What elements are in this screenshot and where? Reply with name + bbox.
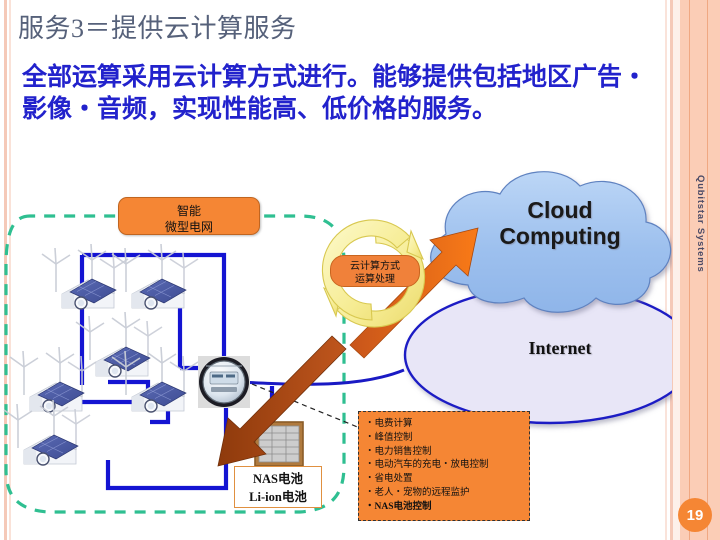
smart-meter <box>198 356 250 408</box>
feature-item: NAS电池控制 <box>365 501 529 515</box>
feature-item: 老人・宠物的远程监护 <box>365 487 529 501</box>
feature-item: 电力销售控制 <box>365 446 529 460</box>
slide-canvas: Qubitstar Systems 19 服务3＝提供云计算服务 全部运算采用云… <box>0 0 720 540</box>
nas-battery-label: NAS电池 Li-ion电池 <box>234 466 322 508</box>
body-paragraph: 全部运算采用云计算方式进行。能够提供包括地区广告・影像・音频，实现性能高、低价格… <box>22 62 662 126</box>
cloud-computing-title: Cloud Computing <box>470 198 650 250</box>
feature-list: 电费计算峰值控制电力销售控制电动汽车的充电・放电控制省电处置老人・宠物的远程监护… <box>365 418 529 514</box>
feature-item: 峰值控制 <box>365 432 529 446</box>
internet-label: Internet <box>470 338 650 359</box>
feature-item: 省电处置 <box>365 473 529 487</box>
feature-item: 电费计算 <box>365 418 529 432</box>
right-edge-rule-c <box>689 0 690 540</box>
feature-item: 电动汽车的充电・放电控制 <box>365 459 529 473</box>
diagram-stage: 智能 微型电网 云计算方式 运算处理 Cloud Computing Inter… <box>0 170 672 540</box>
right-edge-rule-d <box>707 0 708 540</box>
micro-grid-label: 智能 微型电网 <box>118 197 260 235</box>
house-group <box>4 244 198 465</box>
right-decor-panel-light <box>673 0 680 540</box>
cloud-process-label: 云计算方式 运算处理 <box>330 255 420 287</box>
brand-vertical-label: Qubitstar Systems <box>695 175 706 273</box>
page-title: 服务3＝提供云计算服务 <box>18 8 297 45</box>
page-number-badge: 19 <box>678 498 712 532</box>
feature-list-box: 电费计算峰值控制电力销售控制电动汽车的充电・放电控制省电处置老人・宠物的远程监护… <box>358 411 530 521</box>
